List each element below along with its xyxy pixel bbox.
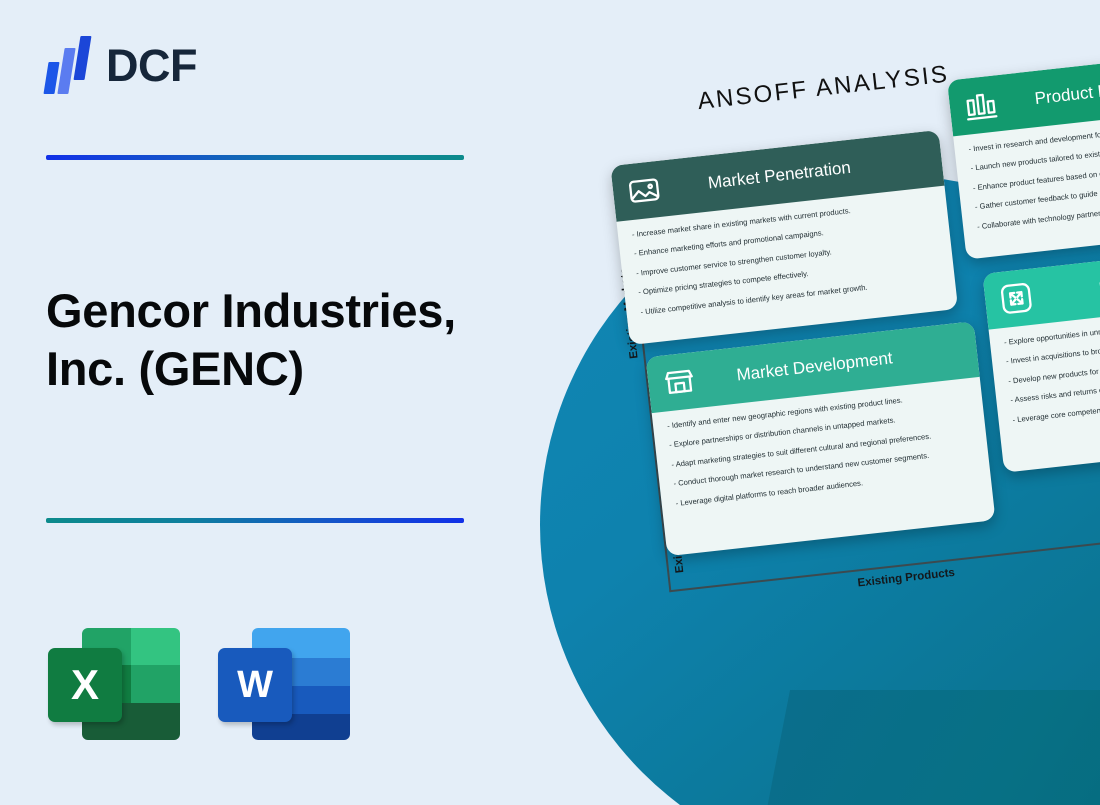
matrix-title: ANSOFF ANALYSIS bbox=[696, 60, 950, 116]
card-title: Market Penetration bbox=[660, 149, 929, 198]
card-title: Product Development bbox=[997, 64, 1100, 113]
divider-top bbox=[46, 155, 464, 160]
divider-bottom bbox=[46, 518, 464, 523]
bar-chart-icon bbox=[962, 86, 1000, 124]
word-file-icon[interactable]: W bbox=[218, 628, 350, 740]
brand-name: DCF bbox=[106, 43, 197, 88]
card-title: Diversification bbox=[1032, 257, 1100, 306]
card-header: Product Development bbox=[947, 44, 1100, 136]
image-icon bbox=[625, 172, 663, 210]
storefront-icon bbox=[661, 363, 699, 401]
slide-canvas: DCF Gencor Industries, Inc. (GENC) X W A… bbox=[0, 0, 1100, 805]
background-wedge bbox=[761, 690, 1100, 805]
word-badge-letter: W bbox=[218, 648, 292, 722]
ansoff-matrix: ANSOFF ANALYSIS Existing Markets Existin… bbox=[553, 27, 1100, 601]
excel-file-icon[interactable]: X bbox=[48, 628, 180, 740]
expand-arrows-icon bbox=[998, 280, 1036, 318]
quadrant-card-product-development[interactable]: Product Development - Invest in research… bbox=[947, 44, 1100, 259]
excel-badge-letter: X bbox=[48, 648, 122, 722]
quadrant-card-market-penetration[interactable]: Market Penetration - Increase market sha… bbox=[610, 130, 958, 345]
quadrant-card-market-development[interactable]: Market Development - Identify and enter … bbox=[646, 321, 996, 556]
page-title: Gencor Industries, Inc. (GENC) bbox=[46, 282, 516, 399]
card-title: Market Development bbox=[695, 341, 964, 390]
dcf-bars-logo-icon bbox=[46, 36, 94, 94]
left-panel: DCF Gencor Industries, Inc. (GENC) X W bbox=[0, 0, 540, 805]
quadrant-card-diversification[interactable]: Diversification - Explore opportunities … bbox=[982, 238, 1100, 473]
document-format-row: X W bbox=[48, 628, 350, 740]
brand-logo[interactable]: DCF bbox=[46, 36, 197, 94]
